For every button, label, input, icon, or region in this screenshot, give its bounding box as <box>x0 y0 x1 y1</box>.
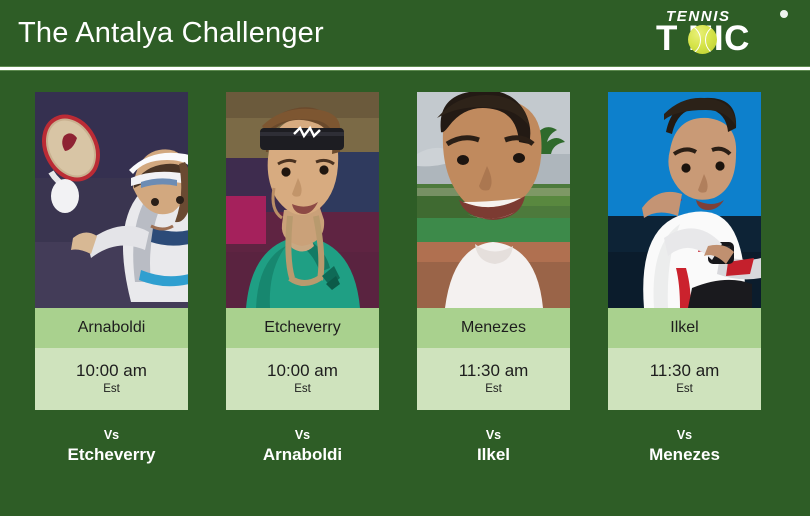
player-photo-etcheverry <box>226 92 379 308</box>
match-time: 10:00 am <box>76 362 147 381</box>
player-card[interactable]: Etcheverry 10:00 am Est <box>226 92 379 410</box>
player-card[interactable]: Ilkel 11:30 am Est <box>608 92 761 410</box>
registered-trademark-icon <box>780 10 788 18</box>
opponent-cell: Vs Menezes <box>608 427 761 467</box>
player-photo-ilkel <box>608 92 761 308</box>
match-time-block: 11:30 am Est <box>608 348 761 410</box>
vs-label: Vs <box>417 427 570 444</box>
opponent-name: Menezes <box>608 444 761 467</box>
player-name: Arnaboldi <box>35 308 188 348</box>
opponent-cell: Vs Etcheverry <box>35 427 188 467</box>
player-photo-menezes <box>417 92 570 308</box>
opponent-name: Ilkel <box>417 444 570 467</box>
player-name: Ilkel <box>608 308 761 348</box>
player-card[interactable]: Menezes 11:30 am Est <box>417 92 570 410</box>
player-photo-arnaboldi <box>35 92 188 308</box>
player-card[interactable]: Arnaboldi 10:00 am Est <box>35 92 188 410</box>
match-time-block: 10:00 am Est <box>226 348 379 410</box>
match-timezone: Est <box>103 383 120 396</box>
match-time: 10:00 am <box>267 362 338 381</box>
opponent-cell: Vs Ilkel <box>417 427 570 467</box>
page-header: The Antalya Challenger TENNIS T NIC <box>0 0 810 66</box>
opponent-name: Etcheverry <box>35 444 188 467</box>
player-name: Menezes <box>417 308 570 348</box>
match-timezone: Est <box>294 383 311 396</box>
opponent-name: Arnaboldi <box>226 444 379 467</box>
vs-label: Vs <box>35 427 188 444</box>
match-timezone: Est <box>485 383 502 396</box>
match-time-block: 10:00 am Est <box>35 348 188 410</box>
tennis-tonic-logo[interactable]: TENNIS T NIC <box>648 7 794 59</box>
tournament-schedule-page: The Antalya Challenger TENNIS T NIC <box>0 0 810 516</box>
match-time-block: 11:30 am Est <box>417 348 570 410</box>
vs-label: Vs <box>226 427 379 444</box>
match-time: 11:30 am <box>459 362 529 381</box>
player-cards-row: Arnaboldi 10:00 am Est <box>0 71 810 410</box>
player-name: Etcheverry <box>226 308 379 348</box>
tennis-ball-icon <box>688 25 717 54</box>
vs-label: Vs <box>608 427 761 444</box>
opponents-row: Vs Etcheverry Vs Arnaboldi Vs Ilkel Vs M… <box>0 410 810 467</box>
opponent-cell: Vs Arnaboldi <box>226 427 379 467</box>
page-title: The Antalya Challenger <box>18 19 324 48</box>
match-timezone: Est <box>676 383 693 396</box>
match-time: 11:30 am <box>650 362 720 381</box>
